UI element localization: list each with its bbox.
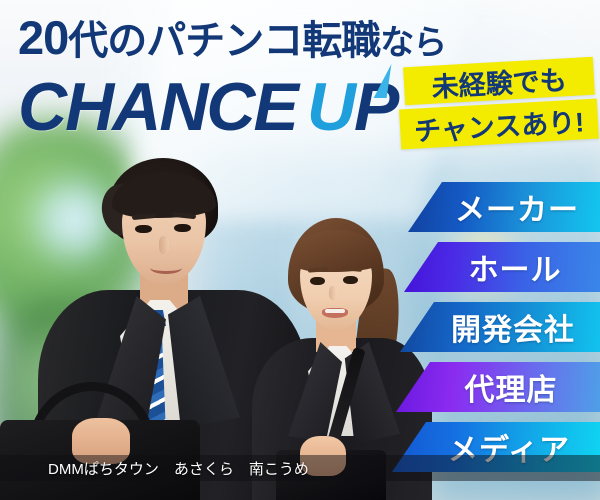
credit-text: DMMぱちタウン あさくら 南こうめ bbox=[0, 458, 309, 479]
category-button-maker[interactable]: メーカー bbox=[408, 182, 600, 232]
category-button-list: メーカー ホール 開発会社 代理店 メディア bbox=[0, 0, 600, 500]
ad-banner[interactable]: 20代のパチンコ転職なら CHANCEUP 未経験でも チャンスあり! メーカー… bbox=[0, 0, 600, 500]
category-button-agency[interactable]: 代理店 bbox=[396, 362, 600, 412]
category-button-hall[interactable]: ホール bbox=[404, 242, 600, 292]
category-label-hall: ホール bbox=[443, 245, 562, 289]
category-label-maker: メーカー bbox=[429, 185, 579, 229]
category-button-development-company[interactable]: 開発会社 bbox=[400, 302, 600, 352]
category-label-agency: 代理店 bbox=[439, 365, 558, 409]
credit-bar: DMMぱちタウン あさくら 南こうめ bbox=[0, 455, 600, 481]
category-label-development-company: 開発会社 bbox=[425, 305, 575, 349]
